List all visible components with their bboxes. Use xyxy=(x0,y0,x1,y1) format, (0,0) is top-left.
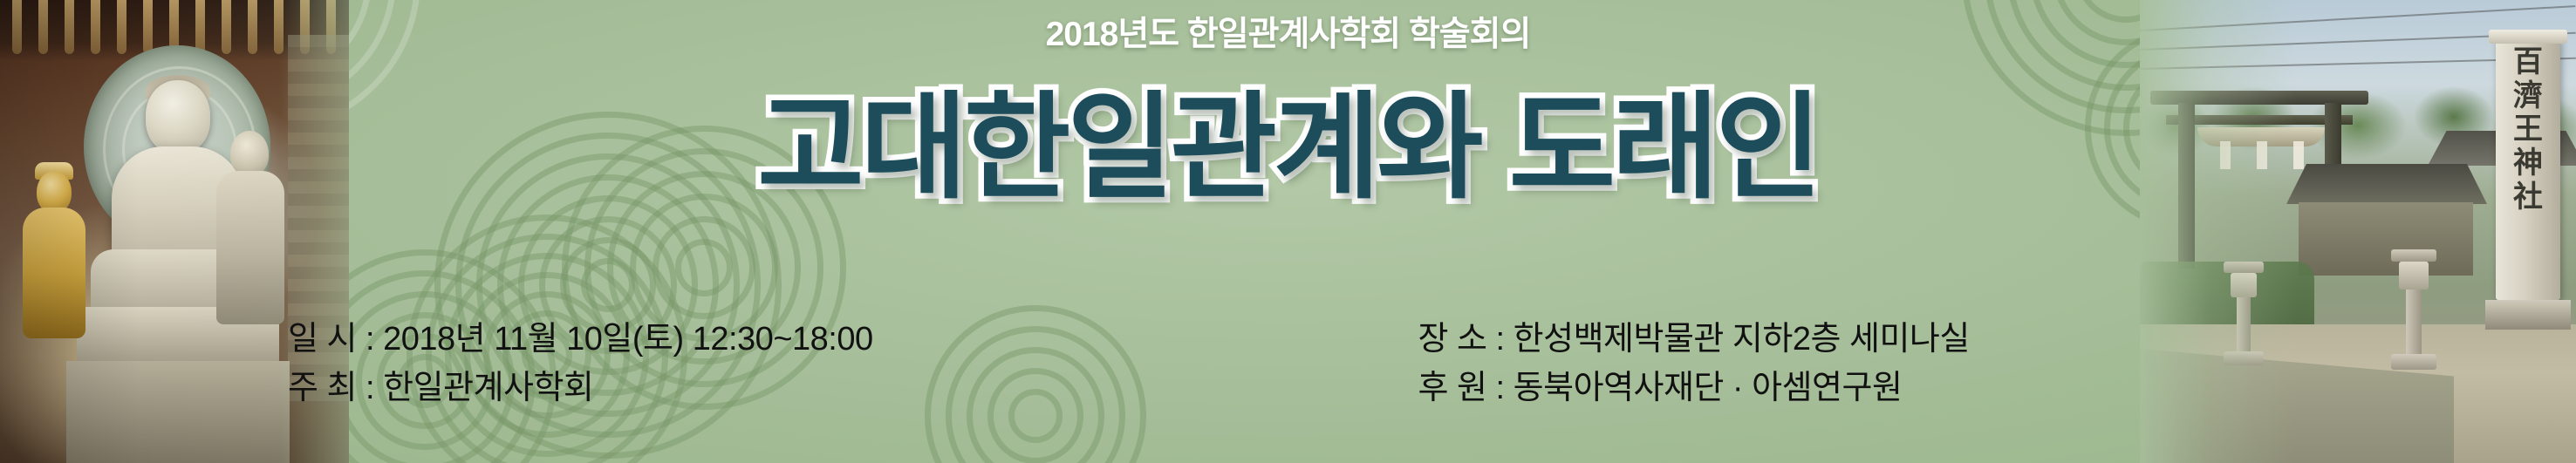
banner-main-title: 고대한일관계와 도래인 xyxy=(0,54,2576,221)
info-sponsor: 후 원 : 동북아역사재단 · 아셈연구원 xyxy=(1267,359,2202,408)
info-venue: 장 소 : 한성백제박물관 지하2층 세미나실 xyxy=(1267,310,2202,359)
conference-banner: 百濟王神社 2018년도 한일관계사학회 학술회의 고대한일관계와 도래인 일 … xyxy=(0,0,2576,463)
stone-pillar-base xyxy=(2485,300,2571,330)
lotus-pedestal xyxy=(77,307,279,368)
stone-pedestal xyxy=(66,361,290,463)
event-info-block: 일 시 : 2018년 11월 10일(토) 12:30~18:00 장 소 :… xyxy=(288,310,2201,408)
bodhisattva-body xyxy=(23,208,85,338)
info-host: 주 최 : 한일관계사학회 xyxy=(288,359,1223,408)
buddha-lap xyxy=(91,249,265,324)
info-datetime: 일 시 : 2018년 11월 10일(토) 12:30~18:00 xyxy=(288,310,1223,359)
gravel-ground xyxy=(2140,324,2576,463)
banner-subtitle: 2018년도 한일관계사학회 학술회의 xyxy=(0,7,2576,56)
